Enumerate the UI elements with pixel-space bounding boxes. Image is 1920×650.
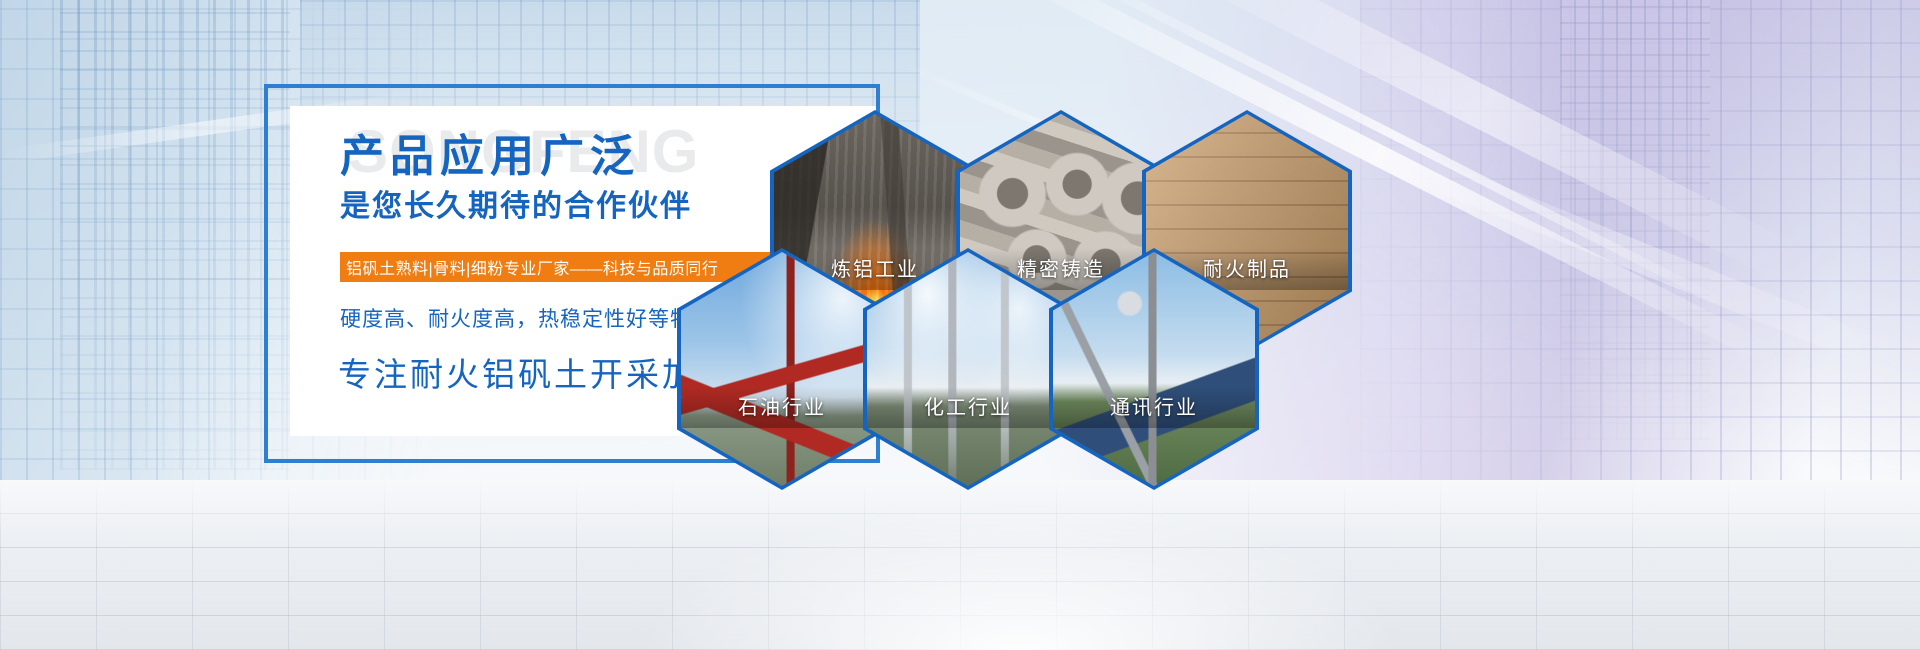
background-tower-left [60, 0, 290, 470]
page-subtitle: 是您长久期待的合作伙伴 [340, 192, 692, 222]
page-title: 产品应用广泛 [340, 135, 640, 179]
hexagon-label: 化工行业 [867, 391, 1069, 420]
hexagon-label: 石油行业 [681, 391, 883, 420]
promo-banner: SONGFENG 产品应用广泛 是您长久期待的合作伙伴 铝矾土熟料|骨料|细粉专… [0, 0, 1920, 650]
industry-hexagon-grid: 炼铝工业 精密铸造 耐火制品 石油行业 [660, 60, 1380, 560]
feature-text: 硬度高、耐火度高，热稳定性好等特性 [340, 303, 714, 333]
hexagon-label: 通讯行业 [1053, 391, 1255, 420]
